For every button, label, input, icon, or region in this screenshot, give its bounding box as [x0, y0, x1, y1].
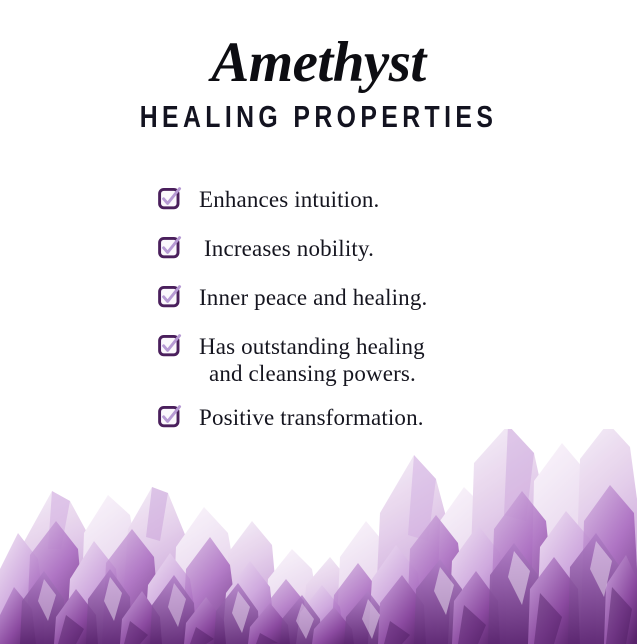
page-subtitle: HEALING PROPERTIES [64, 100, 574, 134]
amethyst-healing-properties-poster: Amethyst HEALING PROPERTIES Enhances int… [0, 0, 637, 644]
list-item-label: Positive transformation. [199, 404, 424, 432]
list-item-label: Inner peace and healing. [199, 284, 427, 312]
checked-checkbox-icon[interactable] [158, 405, 182, 428]
checked-checkbox-icon[interactable] [158, 334, 182, 357]
amethyst-crystal-cluster-photo [0, 429, 637, 644]
list-item-label: Enhances intuition. [199, 186, 379, 214]
list-item[interactable]: Has outstanding healing and cleansing po… [158, 333, 578, 387]
list-item[interactable]: Increases nobility. [158, 235, 578, 263]
list-item[interactable]: Positive transformation. [158, 404, 578, 432]
list-item-label: Increases nobility. [199, 235, 374, 263]
list-item[interactable]: Inner peace and healing. [158, 284, 578, 312]
checked-checkbox-icon[interactable] [158, 285, 182, 308]
page-title: Amethyst [0, 32, 637, 94]
checked-checkbox-icon[interactable] [158, 236, 182, 259]
list-item-label: Has outstanding healing and cleansing po… [199, 333, 425, 387]
list-item[interactable]: Enhances intuition. [158, 186, 578, 214]
header: Amethyst HEALING PROPERTIES [0, 32, 637, 134]
checked-checkbox-icon[interactable] [158, 187, 182, 210]
benefits-list: Enhances intuition. Increases nobility. … [158, 186, 578, 453]
